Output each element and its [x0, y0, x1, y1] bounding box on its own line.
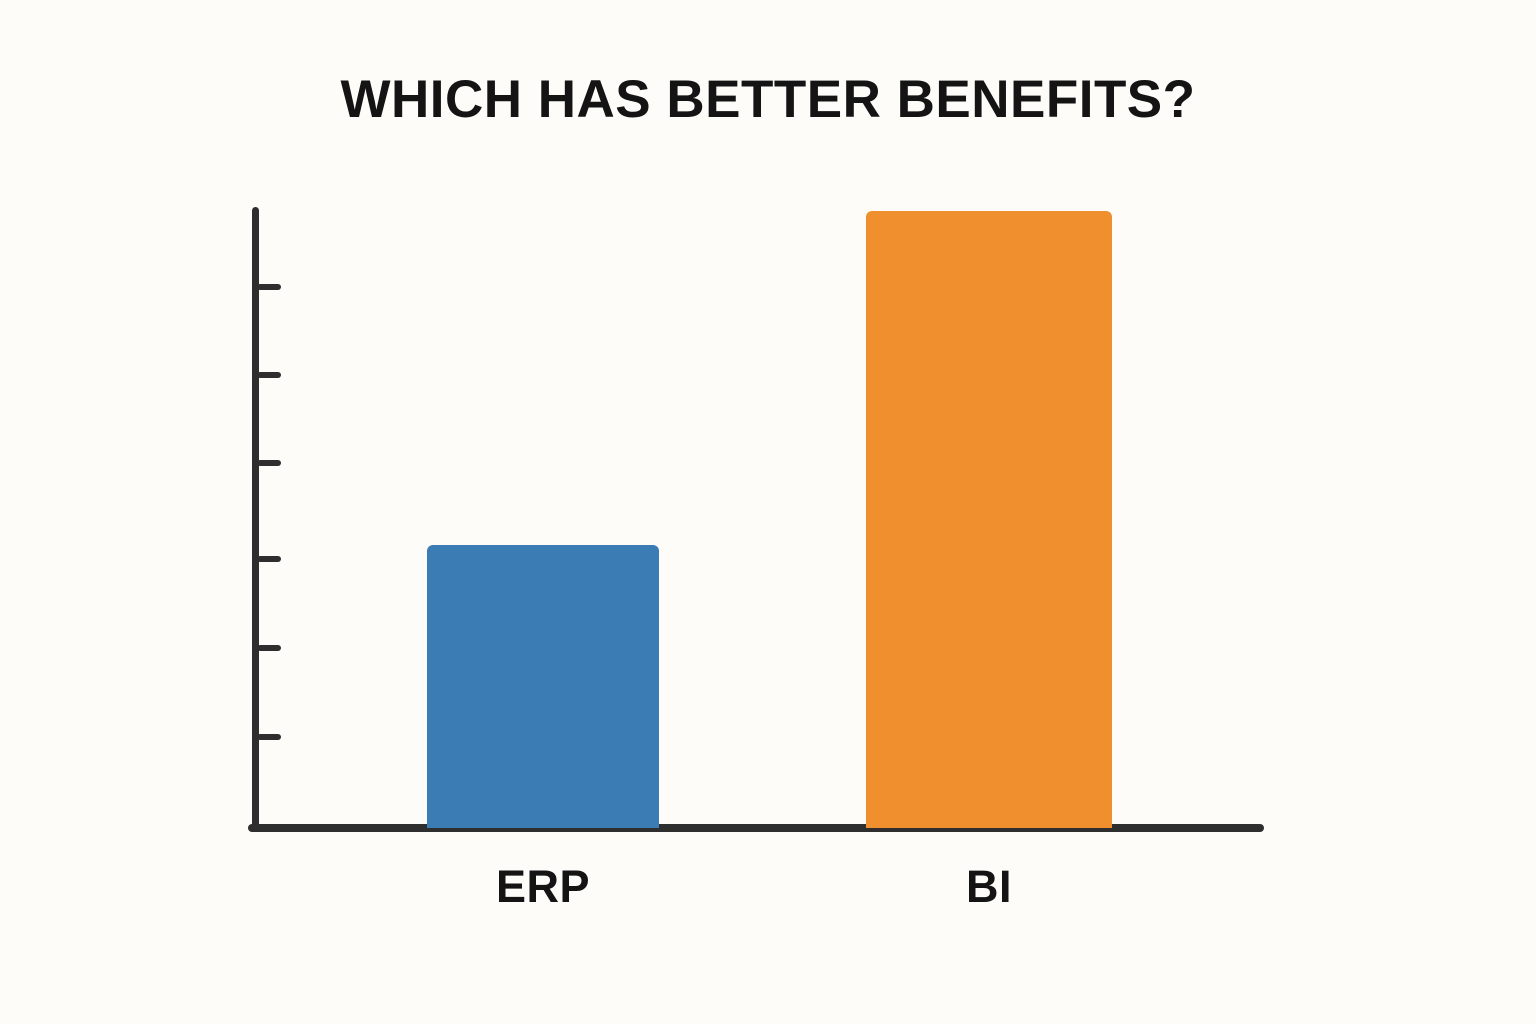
y-axis-tick-2	[257, 460, 281, 466]
x-axis-label-erp: ERP	[393, 861, 693, 913]
y-axis-tick-4	[257, 645, 281, 651]
y-axis-tick-3	[257, 556, 281, 562]
chart-canvas: WHICH HAS BETTER BENEFITS? ERP BI	[0, 0, 1536, 1024]
bar-bi	[866, 211, 1112, 828]
y-axis-tick-5	[257, 734, 281, 740]
plot-area: ERP BI	[0, 0, 1536, 1024]
x-axis-label-bi: BI	[839, 861, 1139, 913]
y-axis-tick-1	[257, 372, 281, 378]
y-axis-tick-0	[257, 284, 281, 290]
bar-erp	[427, 545, 659, 828]
